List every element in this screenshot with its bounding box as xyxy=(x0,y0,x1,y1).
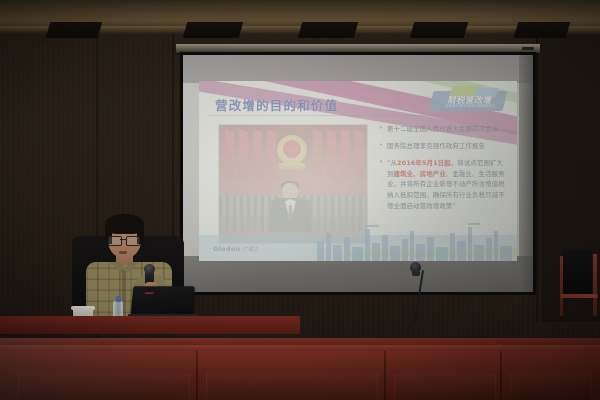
chair xyxy=(560,250,600,322)
chair-backrest xyxy=(562,250,592,296)
bullet-text: 国务院总理李克强作政府工作报告 xyxy=(387,142,485,150)
screen-blank-top xyxy=(183,55,533,83)
slide-title: 营改增的目的和价值 xyxy=(215,95,338,114)
handheld-microphone-head xyxy=(144,264,155,274)
ceiling-light xyxy=(410,22,469,38)
projection-screen: 营改增的目的和价值 财税营改增 全面推开营业税改征增值税试点 xyxy=(183,55,533,292)
laptop-lid xyxy=(131,286,195,316)
desk-ledge xyxy=(0,316,300,334)
ceiling-light xyxy=(46,22,103,38)
chair-frame xyxy=(560,256,563,316)
slide-bullet: “从2016年5月1日起，将试点范围扩大到建筑业、房地产业、金融业、生活服务业，… xyxy=(379,158,507,211)
laptop xyxy=(128,286,196,320)
bullet-text: “从 xyxy=(387,159,397,167)
screen-edge-shadow xyxy=(519,55,533,292)
laptop-logo xyxy=(145,292,154,294)
slide-title-divider xyxy=(207,115,509,116)
podium xyxy=(0,338,600,400)
bullet-text: 第十二届全国人民代表大会第四次会议 xyxy=(387,125,498,133)
projected-slide: 营改增的目的和价值 财税营改增 全面推开营业税改征增值税试点 xyxy=(199,81,517,261)
screen-roller-knob xyxy=(522,47,534,50)
slide-skyline-decoration: Glodon 广联达 xyxy=(199,219,517,261)
logo-brand-cn: 广联达 xyxy=(243,247,259,253)
chair-armrest xyxy=(560,294,598,298)
ceiling-light xyxy=(298,22,359,38)
slide-bullet: 国务院总理李克强作政府工作报告 xyxy=(379,142,507,152)
eyeglasses-bridge xyxy=(120,239,126,240)
slide-footer-logo: Glodon 广联达 xyxy=(213,245,259,253)
bullet-text-highlight: 2016年5月1日起 xyxy=(397,159,451,167)
eyeglasses-lens xyxy=(126,236,140,246)
screen-blank-bottom xyxy=(183,256,533,292)
presenter-mouth xyxy=(119,251,127,254)
badge-subtitle: 全面推开营业税改征增值税试点 xyxy=(439,104,502,109)
chair-frame xyxy=(593,254,597,316)
bottle-cap xyxy=(116,296,121,302)
microphone-stem xyxy=(414,270,424,322)
presentation-room-photo: 营改增的目的和价值 财税营改增 全面推开营业税改征增值税试点 xyxy=(0,0,600,400)
podium-microphone xyxy=(404,262,430,322)
bullet-text-highlight: 建筑业、房地产业 xyxy=(394,170,446,178)
wall-pillar xyxy=(536,22,541,322)
ceiling-light xyxy=(514,22,571,38)
microphone-grille xyxy=(412,271,420,276)
eyeglasses-lens xyxy=(108,236,122,246)
ceiling-light xyxy=(183,22,244,38)
skyline-silhouette xyxy=(199,219,517,261)
slide-bullet: 第十二届全国人民代表大会第四次会议 xyxy=(379,125,507,135)
slide-badge-graphic: 财税营改增 全面推开营业税改征增值税试点 xyxy=(425,85,511,115)
slide-bullet-list: 第十二届全国人民代表大会第四次会议 国务院总理李克强作政府工作报告 “从2016… xyxy=(379,125,507,218)
podium-sheen xyxy=(0,338,600,400)
logo-brand: Glodon xyxy=(213,245,241,253)
